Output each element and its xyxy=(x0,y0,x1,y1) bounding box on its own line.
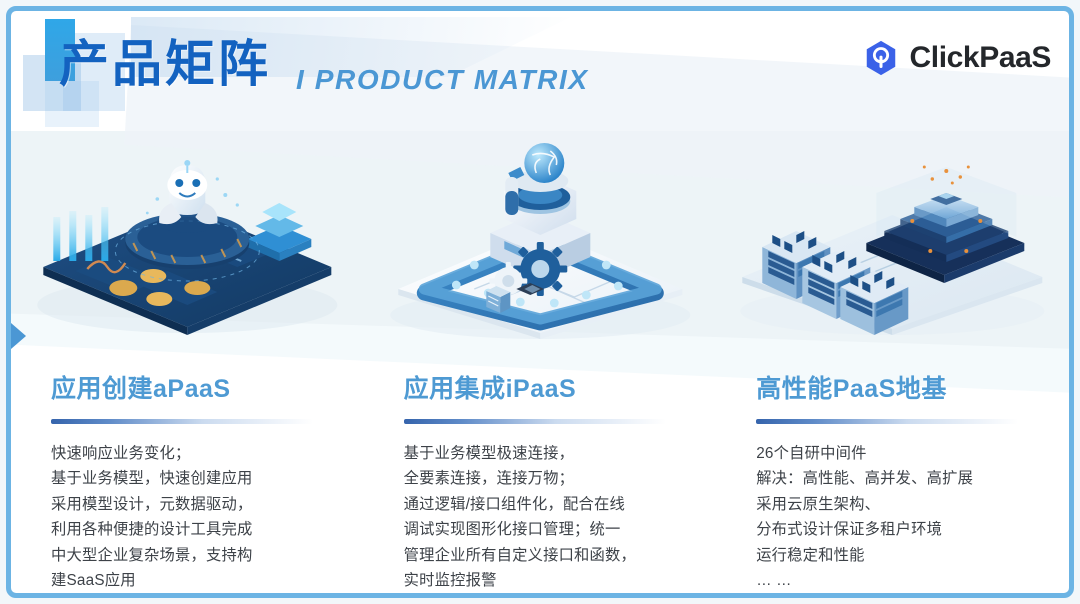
page-subtitle: I PRODUCT MATRIX xyxy=(296,66,589,94)
column-body-apaas: 快速响应业务变化； 基于业务模型，快速创建应用 采用模型设计，元数据驱动， 利用… xyxy=(51,441,343,593)
slide-canvas: 产品矩阵 I PRODUCT MATRIX ClickPaaS xyxy=(11,11,1069,593)
conveyor-globe-gear-illustration xyxy=(364,133,717,343)
column-heading-paas-foundation: 高性能PaaS地基 xyxy=(756,369,947,405)
column-heading-apaas: 应用创建aPaaS xyxy=(51,369,231,405)
left-edge-triangle-accent xyxy=(11,323,26,349)
column-body-paas-foundation: 26个自研中间件 解决：高性能、高并发、高扩展 采用云原生架构、 分布式设计保证… xyxy=(756,441,1048,593)
column-apaas: 应用创建aPaaS 快速响应业务变化； 基于业务模型，快速创建应用 采用模型设计… xyxy=(11,133,364,593)
brand-name: ClickPaaS xyxy=(910,43,1052,73)
slide-root: 产品矩阵 I PRODUCT MATRIX ClickPaaS xyxy=(0,0,1080,604)
brand-logo: ClickPaaS xyxy=(862,39,1052,77)
column-divider-apaas xyxy=(51,419,313,424)
product-columns: 应用创建aPaaS 快速响应业务变化； 基于业务模型，快速创建应用 采用模型设计… xyxy=(11,133,1069,593)
column-ipaas: 应用集成iPaaS 基于业务模型极速连接， 全要素连接，连接万物； 通过逻辑/接… xyxy=(364,133,717,593)
server-racks-pyramid-illustration xyxy=(716,133,1069,343)
robot-data-platform-illustration xyxy=(11,133,364,343)
hexagon-logo-icon xyxy=(862,39,900,77)
column-heading-ipaas: 应用集成iPaaS xyxy=(404,369,577,405)
column-body-ipaas: 基于业务模型极速连接， 全要素连接，连接万物； 通过逻辑/接口组件化，配合在线 … xyxy=(404,441,696,593)
column-paas-foundation: 高性能PaaS地基 26个自研中间件 解决：高性能、高并发、高扩展 采用云原生架… xyxy=(716,133,1069,593)
slide-header: 产品矩阵 I PRODUCT MATRIX ClickPaaS xyxy=(11,11,1069,133)
column-divider-paas-foundation xyxy=(756,419,1018,424)
column-divider-ipaas xyxy=(404,419,666,424)
page-title: 产品矩阵 xyxy=(59,39,271,89)
